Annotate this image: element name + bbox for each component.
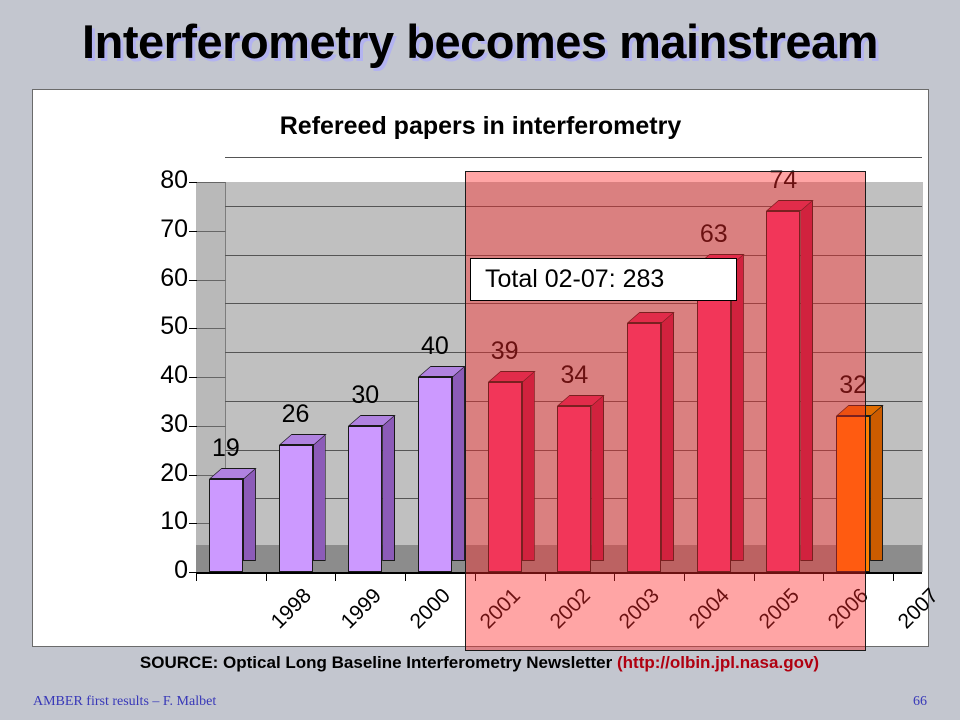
bar-front-face [279, 445, 313, 572]
x-axis-tick [196, 572, 197, 581]
y-axis-tick [189, 426, 197, 427]
depth-tick [196, 157, 255, 183]
bar-side-face [522, 371, 535, 561]
footer-page-number: 66 [913, 694, 927, 710]
total-callout-label: Total 02-07: 283 [471, 265, 664, 294]
y-axis-tick-label: 60 [142, 266, 188, 291]
bar-front-face [627, 323, 661, 572]
bar-side-face [452, 366, 465, 561]
x-axis-tick [545, 572, 546, 581]
bar-2007 [836, 416, 870, 572]
bar-front-face [488, 382, 522, 572]
x-axis-tick [754, 572, 755, 581]
total-callout-box: Total 02-07: 283 [470, 258, 737, 301]
source-url[interactable]: (http://olbin.jpl.nasa.gov) [617, 653, 819, 672]
bar-value-label: 63 [683, 220, 745, 249]
bar-value-label: 40 [404, 332, 466, 361]
bar-value-label: 34 [543, 361, 605, 390]
bar-front-face [697, 265, 731, 572]
bar-side-face [382, 415, 395, 561]
x-axis-category-label: 2001 [476, 584, 526, 634]
x-axis-category-label: 1999 [336, 584, 386, 634]
x-axis-category-label: 2007 [894, 584, 944, 634]
bar-value-label: 30 [334, 381, 396, 410]
x-axis-category-label: 2002 [545, 584, 595, 634]
chart-panel: Refereed papers in interferometry 010203… [32, 89, 929, 647]
bar-side-face [800, 200, 813, 561]
x-axis-tick [614, 572, 615, 581]
y-axis-tick [189, 182, 197, 183]
bar-2004 [627, 323, 661, 572]
y-axis-tick [189, 377, 197, 378]
bar-side-face [243, 468, 256, 561]
x-axis-category-label: 2005 [754, 584, 804, 634]
bar-value-label: 74 [752, 166, 814, 195]
bar-front-face [209, 479, 243, 572]
bar-2002 [488, 382, 522, 572]
x-axis-tick [475, 572, 476, 581]
gridline [225, 303, 922, 304]
x-axis-category-label: 2000 [406, 584, 456, 634]
bar-value-label: 19 [195, 434, 257, 463]
x-axis-tick [405, 572, 406, 581]
x-axis-tick [684, 572, 685, 581]
y-axis-tick-label: 70 [142, 217, 188, 242]
x-axis-category-label: 2004 [685, 584, 735, 634]
bar-side-face [870, 405, 883, 561]
y-axis-labels: 01020304050607080 [128, 90, 188, 646]
x-axis-tick [823, 572, 824, 581]
bar-side-face [313, 434, 326, 561]
y-axis-tick [189, 231, 197, 232]
bar-front-face [836, 416, 870, 572]
bar-2001 [418, 377, 452, 572]
slide-title: Interferometry becomes mainstream [0, 14, 960, 69]
bar-front-face [766, 211, 800, 572]
y-axis-tick-label: 30 [142, 412, 188, 437]
x-axis-tick [893, 572, 894, 581]
y-axis-tick-label: 50 [142, 314, 188, 339]
bar-2005 [697, 265, 731, 572]
x-axis-line [196, 572, 922, 574]
gridline [225, 255, 922, 256]
bar-2000 [348, 426, 382, 572]
bar-2006 [766, 211, 800, 572]
y-axis-tick [189, 523, 197, 524]
bar-side-face [591, 395, 604, 561]
y-axis-tick-label: 0 [142, 558, 188, 583]
bar-front-face [557, 406, 591, 572]
x-axis-tick [266, 572, 267, 581]
x-axis-category-label: 2003 [615, 584, 665, 634]
bar-value-label: 39 [474, 337, 536, 366]
source-prefix: SOURCE: Optical Long Baseline Interferom… [140, 653, 617, 672]
gridline [225, 157, 922, 158]
bar-1998 [209, 479, 243, 572]
bar-front-face [348, 426, 382, 572]
bar-2003 [557, 406, 591, 572]
bar-value-label: 32 [822, 371, 884, 400]
y-axis-tick-label: 20 [142, 461, 188, 486]
bar-front-face [418, 377, 452, 572]
bar-side-face [661, 312, 674, 561]
y-axis-tick [189, 475, 197, 476]
footer-left-text: AMBER first results – F. Malbet [33, 694, 216, 710]
y-axis-tick-label: 40 [142, 363, 188, 388]
y-axis-tick [189, 280, 197, 281]
bar-value-label: 26 [265, 400, 327, 429]
gridline [225, 352, 922, 353]
bar-chart-plot: 01020304050607080 1998199920002001200220… [33, 90, 928, 646]
y-axis-tick-label: 10 [142, 509, 188, 534]
x-axis-category-label: 2006 [824, 584, 874, 634]
bar-1999 [279, 445, 313, 572]
x-axis-category-label: 1998 [267, 584, 317, 634]
y-axis-tick-label: 80 [142, 168, 188, 193]
gridline [225, 206, 922, 207]
y-axis-tick [189, 328, 197, 329]
x-axis-tick [335, 572, 336, 581]
source-line: SOURCE: Optical Long Baseline Interferom… [32, 653, 927, 673]
